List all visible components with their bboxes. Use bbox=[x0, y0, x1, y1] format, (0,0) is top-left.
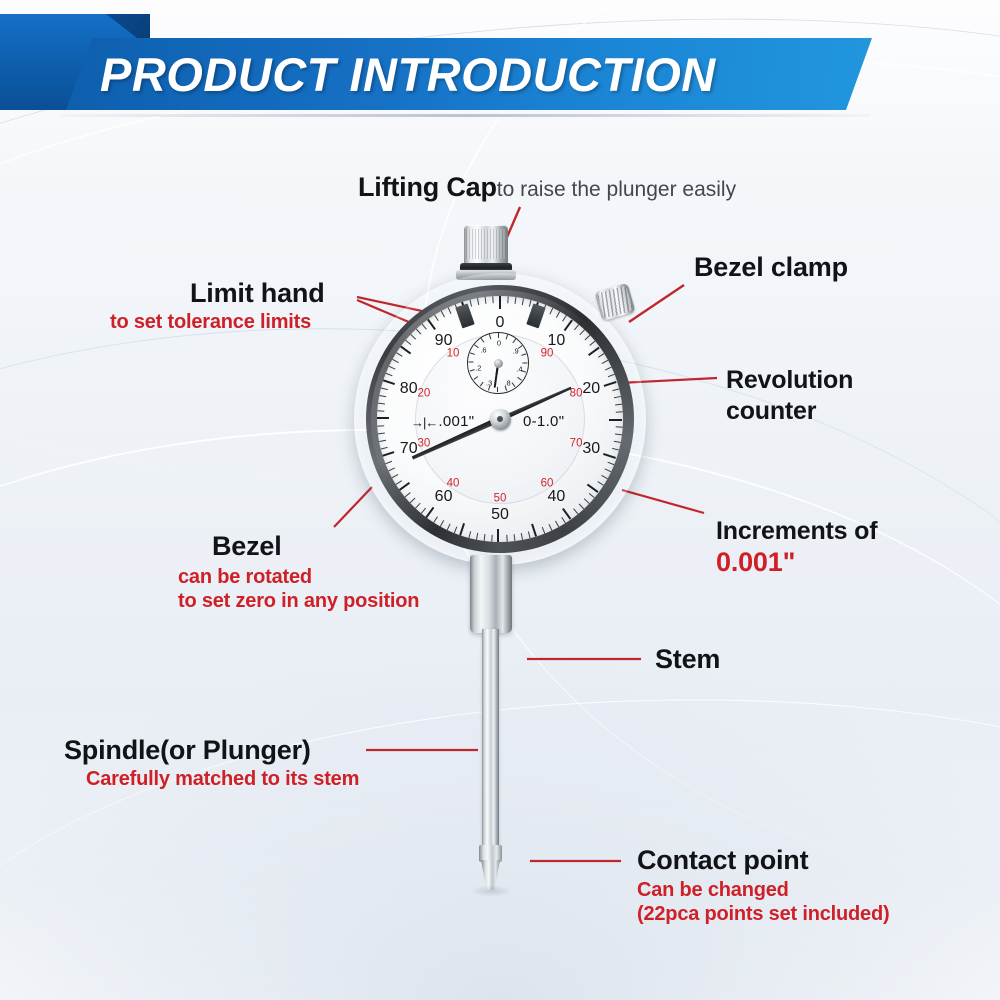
dial-tick bbox=[440, 311, 444, 318]
dial-tick bbox=[612, 448, 619, 451]
lifting-cap-knurl bbox=[466, 229, 506, 259]
dial-tick bbox=[483, 534, 485, 541]
dial-tick bbox=[564, 319, 573, 331]
dial-tick bbox=[409, 498, 415, 504]
dial-tick bbox=[573, 324, 578, 330]
dial-tick bbox=[392, 359, 399, 363]
revolution-counter-label: .6 bbox=[480, 346, 486, 354]
dial-number-red: 90 bbox=[541, 349, 554, 361]
dial-number-black: 70 bbox=[400, 441, 418, 457]
stem bbox=[470, 555, 512, 633]
dial-tick bbox=[377, 433, 384, 435]
dial-tick bbox=[613, 441, 620, 443]
callout-spindle: Spindle(or Plunger) Carefully matched to… bbox=[64, 735, 359, 791]
dial-number-black: 60 bbox=[435, 489, 453, 505]
bezel-clamp-knob[interactable] bbox=[595, 283, 636, 321]
dial-tick bbox=[380, 387, 387, 390]
dial-number-black: 40 bbox=[548, 489, 566, 505]
dial-tick bbox=[588, 347, 600, 356]
dial-tick bbox=[583, 498, 589, 504]
dial-tick bbox=[614, 434, 621, 436]
graduation-arrow-icon: →|← bbox=[411, 415, 437, 430]
dial-tick bbox=[609, 419, 622, 421]
dial-tick bbox=[379, 395, 386, 397]
revolution-counter-tick bbox=[469, 352, 474, 354]
dial-tick bbox=[405, 340, 411, 345]
dial-number-black: 20 bbox=[582, 381, 600, 397]
revolution-counter-tick bbox=[522, 363, 527, 364]
dial-tick bbox=[400, 345, 412, 354]
callout-stem-title: Stem bbox=[655, 644, 720, 675]
dial-tick bbox=[507, 296, 508, 303]
dial-tick bbox=[589, 341, 595, 346]
banner-underline bbox=[60, 114, 870, 117]
dial-number-red: 80 bbox=[570, 389, 583, 401]
revolution-counter-tick bbox=[479, 382, 483, 387]
dial-tick bbox=[578, 504, 584, 510]
range-label: 0-1.0" bbox=[523, 413, 564, 430]
dial-tick bbox=[497, 529, 499, 542]
product-introduction-page: PRODUCT INTRODUCTION 010 bbox=[0, 0, 1000, 1000]
callout-bezel-clamp-title: Bezel clamp bbox=[694, 252, 848, 283]
graduation-value: .001" bbox=[438, 413, 474, 430]
dial-number-red: 60 bbox=[541, 478, 554, 490]
dial-tick bbox=[380, 447, 387, 450]
limit-hand[interactable] bbox=[526, 303, 545, 328]
dial-tick bbox=[573, 508, 578, 514]
callout-limit-hand-sub: to set tolerance limits bbox=[110, 311, 325, 334]
dial-tick bbox=[459, 523, 465, 536]
callout-increments-title: Increments of bbox=[716, 517, 877, 546]
dial-tick bbox=[491, 535, 492, 542]
callout-revolution-counter: Revolution counter bbox=[726, 366, 853, 426]
dial-tick bbox=[447, 307, 451, 314]
dial-tick bbox=[404, 492, 410, 497]
dial-tick bbox=[468, 531, 471, 538]
dial-tick bbox=[579, 329, 585, 335]
revolution-counter-tick bbox=[505, 334, 507, 339]
dial-tick bbox=[434, 315, 439, 321]
dial-tick bbox=[377, 410, 384, 411]
dial-tick bbox=[499, 296, 501, 309]
contact-point-shadow bbox=[470, 885, 512, 897]
revolution-counter-hub bbox=[494, 359, 503, 368]
dial-tick bbox=[549, 308, 553, 315]
dial-tick bbox=[555, 311, 559, 318]
bezel-clamp-knurl bbox=[597, 285, 633, 318]
revolution-counter-tick bbox=[521, 353, 526, 355]
dial-tick bbox=[607, 462, 614, 466]
dial-tick bbox=[597, 353, 603, 358]
dial-number-black: 30 bbox=[582, 441, 600, 457]
dial-tick bbox=[520, 533, 522, 540]
dial-tick bbox=[382, 379, 395, 385]
revolution-counter-tick bbox=[480, 338, 484, 343]
contact-point-collar bbox=[479, 845, 502, 862]
callout-lifting-cap-title: Lifting Cap bbox=[358, 172, 497, 202]
callout-contact-point-sub2: (22pca points set included) bbox=[637, 903, 889, 926]
callout-revolution-counter-line2: counter bbox=[726, 397, 853, 426]
dial-number-red: 50 bbox=[494, 493, 507, 505]
dial-tick bbox=[415, 503, 421, 509]
dial-tick bbox=[514, 297, 516, 304]
dial-tick bbox=[410, 334, 416, 340]
center-hub bbox=[490, 409, 511, 430]
dial-tick bbox=[521, 298, 523, 305]
dial-tick bbox=[541, 527, 545, 534]
dial-tick bbox=[388, 366, 395, 370]
dial-tick bbox=[587, 484, 599, 493]
dial-tick bbox=[377, 425, 384, 426]
revolution-counter-label: .9 bbox=[512, 347, 518, 355]
revolution-counter-tick bbox=[488, 334, 490, 339]
revolution-counter-tick bbox=[511, 382, 515, 387]
dial-tick bbox=[528, 300, 531, 307]
callout-bezel-clamp: Bezel clamp bbox=[694, 252, 848, 283]
revolution-counter-label: .4 bbox=[516, 365, 522, 373]
dial-tick bbox=[453, 526, 457, 533]
dial-tick bbox=[427, 318, 436, 330]
callout-contact-point-sub1: Can be changed bbox=[637, 879, 889, 902]
dial-tick bbox=[484, 297, 486, 304]
graduation-label: →|←.001" bbox=[411, 413, 474, 430]
revolution-counter-tick bbox=[497, 387, 498, 392]
dial-tick bbox=[607, 374, 614, 378]
revolution-counter-tick bbox=[498, 333, 499, 338]
dial-tick bbox=[603, 453, 616, 459]
dial-tick bbox=[475, 533, 477, 540]
dial-tick bbox=[615, 426, 622, 427]
lifting-cap[interactable] bbox=[464, 225, 508, 265]
callout-spindle-title: Spindle(or Plunger) bbox=[64, 735, 359, 766]
revolution-counter-tick bbox=[517, 377, 522, 381]
revolution-counter-label: .2 bbox=[475, 364, 481, 372]
dial-tick bbox=[527, 531, 530, 538]
dial-number-black: 0 bbox=[496, 315, 505, 331]
dial-tick bbox=[615, 411, 622, 412]
callout-revolution-counter-line1: Revolution bbox=[726, 366, 853, 395]
dial-tick bbox=[469, 300, 472, 307]
dial-tick bbox=[385, 461, 392, 465]
dial-tick bbox=[425, 507, 434, 519]
callout-spindle-sub: Carefully matched to its stem bbox=[86, 768, 359, 791]
dial-tick bbox=[378, 440, 385, 442]
revolution-counter-tick bbox=[512, 339, 516, 344]
revolution-counter-label: 0 bbox=[497, 339, 501, 347]
dial-tick bbox=[420, 508, 425, 514]
dial-tick bbox=[597, 481, 603, 486]
dial-tick bbox=[415, 329, 421, 335]
dial-tick bbox=[612, 388, 619, 391]
dial-tick bbox=[531, 524, 537, 537]
dial-tick bbox=[584, 335, 590, 341]
dial-tick bbox=[548, 524, 552, 531]
dial-tick bbox=[562, 508, 571, 520]
dial-tick bbox=[604, 367, 611, 371]
dial-number-red: 70 bbox=[570, 438, 583, 450]
dial-tick bbox=[395, 480, 401, 485]
callout-lifting-cap: Lifting Capto raise the plunger easily bbox=[358, 172, 736, 203]
revolution-counter-label: .8 bbox=[504, 379, 510, 387]
revolution-counter-tick bbox=[469, 369, 474, 371]
revolution-counter-subdial: 0.9.4.8.3.2.6 bbox=[467, 332, 529, 394]
header-banner: PRODUCT INTRODUCTION bbox=[0, 14, 880, 114]
dial-number-red: 10 bbox=[447, 349, 460, 361]
spindle-plunger bbox=[482, 629, 499, 851]
callout-bezel: Bezel can be rotated to set zero in any … bbox=[212, 531, 419, 613]
revolution-counter-label: .3 bbox=[486, 379, 492, 387]
callout-contact-point-title: Contact point bbox=[637, 845, 889, 876]
callout-limit-hand: Limit hand to set tolerance limits bbox=[190, 278, 325, 334]
callout-bezel-title: Bezel bbox=[212, 531, 419, 562]
dial-tick bbox=[588, 493, 594, 498]
dial-tick bbox=[555, 521, 559, 528]
dial-tick bbox=[562, 315, 567, 321]
dial-tick bbox=[506, 535, 507, 542]
dial-tick bbox=[433, 516, 438, 522]
dial-tick bbox=[399, 482, 411, 491]
dial-tick bbox=[388, 467, 395, 471]
dial-tick bbox=[377, 403, 384, 405]
dial-tick bbox=[391, 474, 398, 478]
dial-number-red: 30 bbox=[418, 438, 431, 450]
revolution-counter-tick bbox=[473, 376, 478, 380]
dial-tick bbox=[385, 373, 392, 377]
dial-tick bbox=[561, 517, 566, 523]
dial-tick bbox=[615, 404, 622, 406]
revolution-counter-tick bbox=[474, 344, 479, 348]
revolution-counter-tick bbox=[468, 362, 473, 363]
callout-contact-point: Contact point Can be changed (22pca poin… bbox=[637, 845, 889, 926]
dial-tick bbox=[382, 451, 395, 457]
dial-tick bbox=[476, 298, 478, 305]
dial-tick bbox=[601, 475, 608, 479]
callout-lifting-cap-sub: to raise the plunger easily bbox=[497, 178, 736, 201]
callout-increments: Increments of 0.001" bbox=[716, 517, 877, 578]
dial-tick bbox=[604, 468, 611, 472]
dial-tick bbox=[604, 381, 617, 387]
dial-tick bbox=[377, 417, 389, 419]
dial-tick bbox=[601, 360, 608, 364]
dial-tick bbox=[421, 324, 426, 330]
callout-limit-hand-title: Limit hand bbox=[190, 278, 325, 309]
callout-increments-value: 0.001" bbox=[716, 547, 877, 578]
callout-bezel-sub2: to set zero in any position bbox=[178, 590, 419, 613]
dial-number-black: 80 bbox=[400, 381, 418, 397]
page-title: PRODUCT INTRODUCTION bbox=[100, 42, 860, 106]
dial-tick bbox=[613, 396, 620, 398]
dial-number-black: 50 bbox=[491, 507, 509, 523]
limit-hand[interactable] bbox=[455, 303, 474, 328]
dial-tick bbox=[492, 296, 493, 303]
dial-number-red: 20 bbox=[418, 389, 431, 401]
dial-tick bbox=[439, 520, 443, 527]
callout-stem: Stem bbox=[655, 644, 720, 675]
dial-tick bbox=[446, 524, 450, 531]
dial-number-red: 40 bbox=[447, 478, 460, 490]
dial-tick bbox=[396, 352, 402, 357]
dial-face: 0102030405060708090 9080706050403020100 … bbox=[377, 296, 623, 542]
callout-bezel-sub1: can be rotated bbox=[178, 566, 419, 589]
dial-tick bbox=[513, 534, 515, 541]
